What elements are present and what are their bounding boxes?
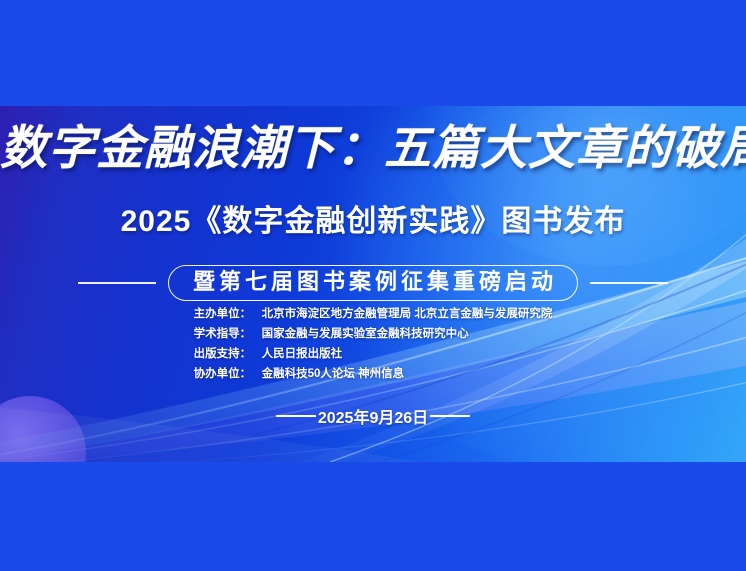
event-date: 2025年9月26日 <box>316 404 430 428</box>
credit-value-co-organizer: 金融科技50人论坛 神州信息 <box>262 368 405 380</box>
credit-line-academic-guidance: 学术指导：国家金融与发展实验室金融科技研究中心 <box>194 324 553 344</box>
credit-label-co-organizer: 协办单位： <box>194 364 262 384</box>
date-row: 2025年9月26日 <box>0 404 746 428</box>
rule-right <box>590 282 668 284</box>
banner-content: 数字金融浪潮下：五篇大文章的破局与重构 2025《数字金融创新实践》图书发布 暨… <box>0 106 746 462</box>
credit-value-publishing-support: 人民日报出版社 <box>262 348 343 360</box>
credit-value-academic-guidance: 国家金融与发展实验室金融科技研究中心 <box>262 328 469 340</box>
credits-block: 主办单位：北京市海淀区地方金融管理局 北京立言金融与发展研究院 学术指导：国家金… <box>0 304 746 384</box>
date-dash-right <box>430 415 470 418</box>
credit-label-organizer: 主办单位： <box>194 304 262 324</box>
event-banner: 数字金融浪潮下：五篇大文章的破局与重构 2025《数字金融创新实践》图书发布 暨… <box>0 106 746 462</box>
badge-row: 暨第七届图书案例征集重磅启动 <box>0 266 746 300</box>
credit-line-organizer: 主办单位：北京市海淀区地方金融管理局 北京立言金融与发展研究院 <box>194 304 553 324</box>
credit-line-publishing-support: 出版支持：人民日报出版社 <box>194 344 553 364</box>
credits-inner: 主办单位：北京市海淀区地方金融管理局 北京立言金融与发展研究院 学术指导：国家金… <box>194 304 553 384</box>
credit-label-publishing-support: 出版支持： <box>194 344 262 364</box>
credit-value-organizer: 北京市海淀区地方金融管理局 北京立言金融与发展研究院 <box>262 308 553 320</box>
credit-line-co-organizer: 协办单位：金融科技50人论坛 神州信息 <box>194 364 553 384</box>
page-title: 数字金融浪潮下：五篇大文章的破局与重构 <box>0 126 746 173</box>
status-badge: 暨第七届图书案例征集重磅启动 <box>168 265 578 301</box>
credit-label-academic-guidance: 学术指导： <box>194 324 262 344</box>
date-dash-left <box>276 415 316 418</box>
banner-subtitle: 2025《数字金融创新实践》图书发布 <box>0 207 746 237</box>
page-root: 数字金融浪潮下：五篇大文章的破局与重构 2025《数字金融创新实践》图书发布 暨… <box>0 0 746 571</box>
rule-left <box>78 282 156 284</box>
